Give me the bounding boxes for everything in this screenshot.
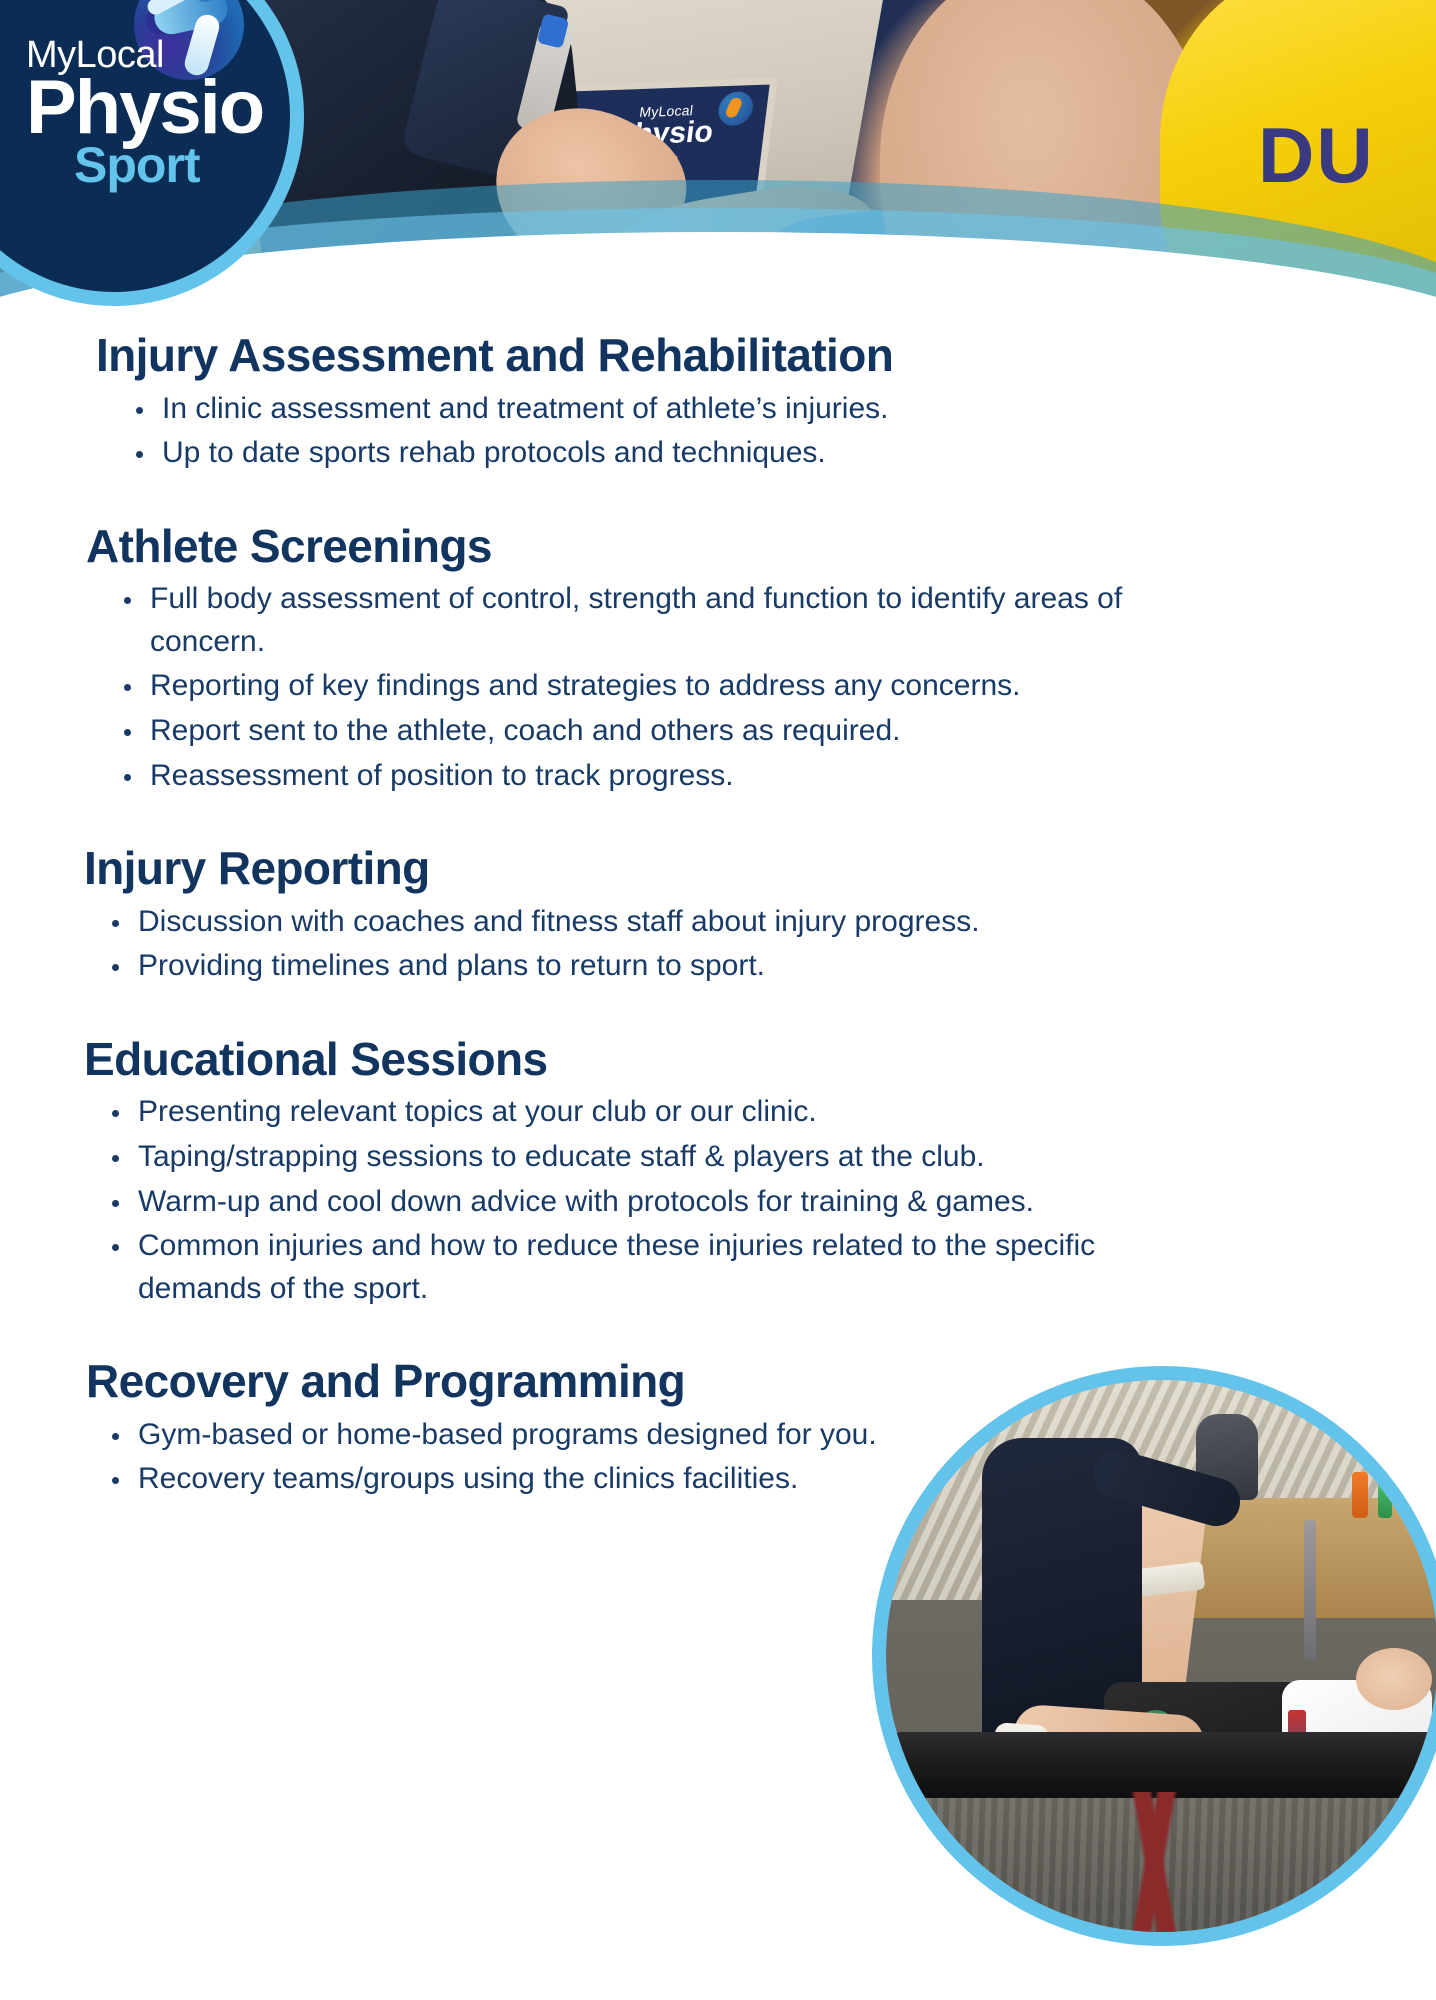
recovery-photo-table-legs [946, 1792, 1376, 1932]
recovery-photo-inner [886, 1380, 1436, 1932]
list-item: In clinic assessment and treatment of at… [132, 388, 1122, 431]
list-item: Full body assessment of control, strengt… [120, 578, 1160, 663]
brand-logo-inner: MyLocal Physio Sport [0, 0, 290, 292]
brand-logo-line-2: Physio [26, 70, 256, 146]
section-injury-assessment: Injury Assessment and Rehabilitation In … [0, 330, 1436, 475]
list-item: Warm-up and cool down advice with protoc… [108, 1181, 1148, 1224]
list-item: Presenting relevant topics at your club … [108, 1091, 1148, 1134]
services-content: Injury Assessment and Rehabilitation In … [0, 330, 1436, 1503]
recovery-photo-therapist-badge [918, 1454, 956, 1468]
brand-logo-text: MyLocal Physio Sport [26, 36, 256, 190]
list-item: Discussion with coaches and fitness staf… [108, 901, 1148, 944]
list-item: Reassessment of position to track progre… [120, 755, 1160, 798]
list-item: Up to date sports rehab protocols and te… [132, 432, 1122, 475]
recovery-photo-bottle-green [1378, 1480, 1392, 1518]
recovery-photo-circle [872, 1366, 1436, 1946]
section-bullet-list: Discussion with coaches and fitness staf… [0, 901, 1436, 988]
recovery-photo-bottle-orange [1352, 1472, 1368, 1518]
recovery-photo-treatment-table [894, 1732, 1436, 1798]
section-educational-sessions: Educational Sessions Presenting relevant… [0, 1034, 1436, 1310]
section-title: Athlete Screenings [86, 521, 1436, 573]
list-item: Common injuries and how to reduce these … [108, 1225, 1148, 1310]
section-title: Injury Reporting [84, 843, 1436, 895]
list-item: Providing timelines and plans to return … [108, 945, 1148, 988]
list-item: Reporting of key findings and strategies… [120, 665, 1160, 708]
section-athlete-screenings: Athlete Screenings Full body assessment … [0, 521, 1436, 797]
section-bullet-list: Full body assessment of control, strengt… [0, 578, 1436, 797]
list-item: Taping/strapping sessions to educate sta… [108, 1136, 1148, 1179]
jersey-lettering: DU [1258, 110, 1375, 201]
recovery-photo-patient-head [1356, 1648, 1432, 1710]
recovery-photo-pole [1304, 1520, 1316, 1660]
section-bullet-list: Presenting relevant topics at your club … [0, 1091, 1436, 1310]
section-title: Injury Assessment and Rehabilitation [96, 330, 1436, 382]
section-injury-reporting: Injury Reporting Discussion with coaches… [0, 843, 1436, 988]
section-bullet-list: In clinic assessment and treatment of at… [0, 388, 1436, 475]
list-item: Report sent to the athlete, coach and ot… [120, 710, 1160, 753]
section-title: Educational Sessions [84, 1034, 1436, 1086]
